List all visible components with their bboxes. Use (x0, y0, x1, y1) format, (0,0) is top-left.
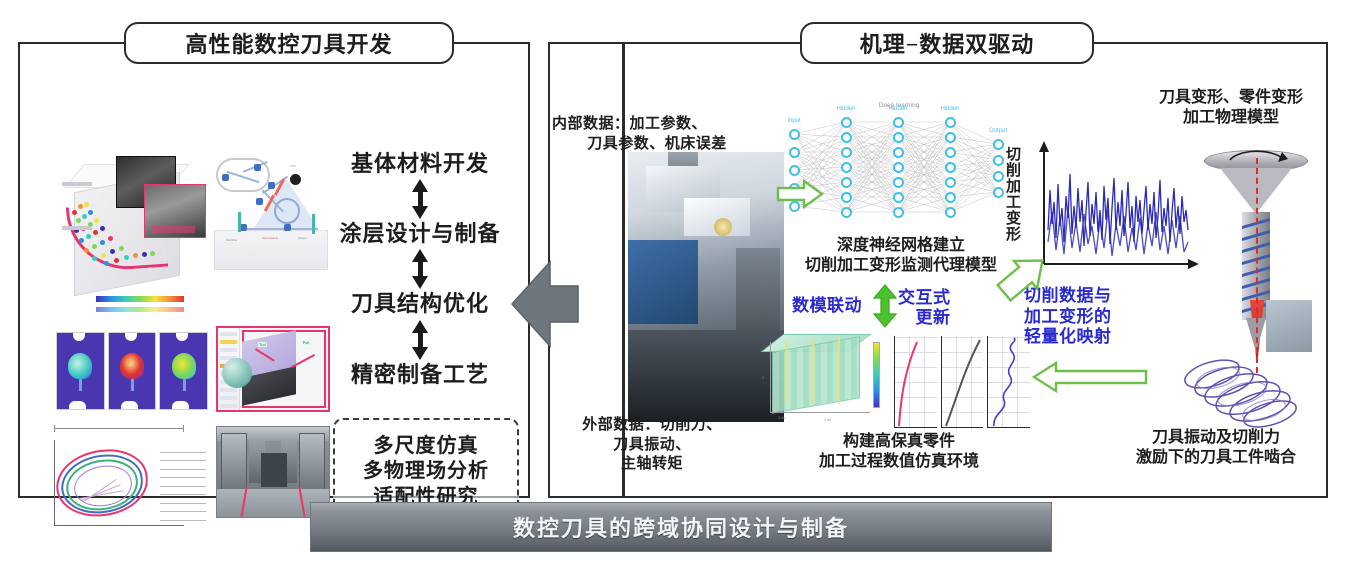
layer-label-hidden-2: Hidden (881, 106, 915, 112)
external-data-line-0: 外部数据：切削力、 (552, 416, 752, 436)
network-node (945, 207, 956, 218)
network-node (945, 117, 956, 128)
double-arrow-icon (412, 179, 428, 219)
layer-label-hidden-3: Hidden (933, 106, 967, 112)
network-node (841, 117, 852, 128)
physical-model-line-0: 刀具变形、零件变形 (1126, 88, 1336, 108)
machine-base-dark (628, 330, 784, 422)
fem-contour-tiles-figure (56, 332, 208, 410)
chain-step-2: 刀具结构优化 (351, 292, 489, 316)
network-node (945, 132, 956, 143)
network-node (841, 177, 852, 188)
internal-data-label: 内部数据：加工参数、 刀具参数、机床误差 (552, 115, 762, 154)
mapping-line-1: 加工变形的 (1024, 307, 1112, 328)
bottom-banner: 数控刀具的跨域协同设计与制备 (310, 502, 1052, 552)
external-data-label: 外部数据：切削力、 刀具振动、 主轴转矩 (552, 416, 752, 475)
network-node (893, 177, 904, 188)
network-node (893, 192, 904, 203)
network-node (841, 147, 852, 158)
rotation-arrow-icon (1226, 146, 1288, 171)
green-arrow-model-to-signal (996, 250, 1052, 302)
dimension-line (54, 428, 184, 429)
sem-image-2 (144, 184, 206, 238)
deformation-axis-label: 切削加工变形 (1002, 146, 1023, 242)
external-data-line-2: 主轴转矩 (552, 455, 752, 475)
sim-caption-line-0: 构建高保真零件 (768, 432, 1030, 452)
network-node (893, 132, 904, 143)
digital-twin-link-label: 数模联动 (792, 296, 862, 316)
internal-data-line-0: 内部数据：加工参数、 (552, 115, 762, 135)
network-node (841, 162, 852, 173)
microstructure-sem-colormap-figure (56, 156, 206, 316)
chip-glow (714, 218, 732, 236)
parameter-table (160, 444, 206, 526)
colorbar-secondary (96, 307, 184, 312)
simulation-environment-caption: 构建高保真零件 加工过程数值仿真环境 (768, 432, 1030, 473)
colorbar (96, 296, 184, 302)
dashed-line-1: 多物理场分析 (363, 459, 489, 485)
network-node (789, 147, 800, 158)
double-arrow-icon (412, 249, 428, 289)
left-panel-title-text: 高性能数控刀具开发 (185, 27, 392, 59)
network-node (945, 192, 956, 203)
chain-step-3: 精密制备工艺 (351, 363, 489, 387)
right-panel-title-text: 机理−数据双驱动 (860, 27, 1035, 59)
workpiece-block (1266, 300, 1312, 352)
network-node (789, 165, 800, 176)
curve-pane-2 (941, 336, 984, 428)
nn-caption-line-1: 切削加工变形监测代理模型 (770, 256, 1032, 276)
vibration-line-1: 激励下的刀具工件啮合 (1096, 448, 1336, 468)
surrogate-model-caption: 深度神经网格建立 切削加工变形监测代理模型 (770, 236, 1032, 277)
axis-tick (62, 182, 92, 186)
double-arrow-icon (412, 320, 428, 360)
physical-model-label: 刀具变形、零件变形 加工物理模型 (1126, 88, 1336, 129)
right-panel-title: 机理−数据双驱动 (800, 22, 1094, 64)
physical-model-line-1: 加工物理模型 (1126, 108, 1336, 128)
network-node (893, 117, 904, 128)
sim-caption-line-1: 加工过程数值仿真环境 (768, 452, 1030, 472)
network-node (945, 147, 956, 158)
mapping-line-2: 轻量化映射 (1024, 327, 1112, 348)
machining-process-photo (628, 152, 784, 422)
colorbar (873, 342, 880, 408)
tool-axis-dashed-line (1256, 158, 1258, 373)
interactive-update-label: 交互式 更新 (898, 288, 951, 329)
layer-label-output: Output (981, 128, 1015, 134)
diagram-root: Tool Machine Sensor Data fusion (0, 0, 1346, 564)
process-chain: 基体材料开发 涂层设计与制备 刀具结构优化 精密制备工艺 (304, 152, 536, 387)
machine-body-blue (628, 240, 698, 324)
left-panel-title: 高性能数控刀具开发 (124, 22, 454, 64)
bottom-banner-text: 数控刀具的跨域协同设计与制备 (513, 511, 849, 543)
network-node (893, 147, 904, 158)
polar-cycloid-plot-figure (50, 422, 208, 534)
fem-tile (56, 332, 105, 410)
chain-step-0: 基体材料开发 (351, 152, 489, 176)
tool-vibration-spiral-figure (1178, 352, 1304, 438)
update-line-0: 交互式 (898, 288, 951, 308)
deep-learning-network-diagram: Deep learning (784, 104, 1014, 236)
curve-pane-1 (894, 336, 937, 428)
fem-tile (108, 332, 157, 410)
network-node (893, 207, 904, 218)
vibration-line-0: 刀具振动及切削力 (1096, 428, 1336, 448)
signal-svg (1030, 138, 1200, 274)
spindle-node (290, 174, 301, 185)
network-node (945, 177, 956, 188)
chain-step-1: 涂层设计与制备 (339, 222, 500, 246)
grey-arrow-right-to-left (510, 256, 580, 352)
green-arrow-vibration-to-simulation (1030, 360, 1148, 394)
internal-data-line-1: 刀具参数、机床误差 (552, 135, 762, 155)
network-node (789, 129, 800, 140)
nn-caption-line-0: 深度神经网格建立 (770, 236, 1032, 256)
simulation-curve-plots (894, 336, 1030, 428)
dashed-line-0: 多尺度仿真 (374, 434, 479, 460)
layer-label-input: Input (777, 118, 811, 124)
ball-end-tool (222, 358, 252, 388)
ring-shape (274, 198, 300, 224)
external-data-line-1: 刀具振动、 (552, 436, 752, 456)
left-panel: Tool Machine Sensor Data fusion (18, 42, 530, 498)
fem-simulation-3d-figure: X /m Y /m Z (762, 336, 886, 428)
green-double-arrow-vertical (872, 284, 898, 328)
network-node (893, 162, 904, 173)
network-node (841, 132, 852, 143)
green-arrow-photo-to-network (776, 178, 824, 210)
update-line-1: 更新 (898, 308, 951, 328)
axis-tick (62, 226, 92, 230)
network-node (945, 162, 956, 173)
layer-label-hidden-1: Hidden (829, 106, 863, 112)
cutting-deformation-signal-plot (1030, 138, 1200, 274)
spiral-svg (1178, 352, 1304, 438)
curve-pane-3 (987, 336, 1030, 428)
fem-tile (159, 332, 208, 410)
network-node (841, 192, 852, 203)
vibration-engagement-label: 刀具振动及切削力 激励下的刀具工件啮合 (1096, 428, 1336, 469)
network-node (841, 207, 852, 218)
